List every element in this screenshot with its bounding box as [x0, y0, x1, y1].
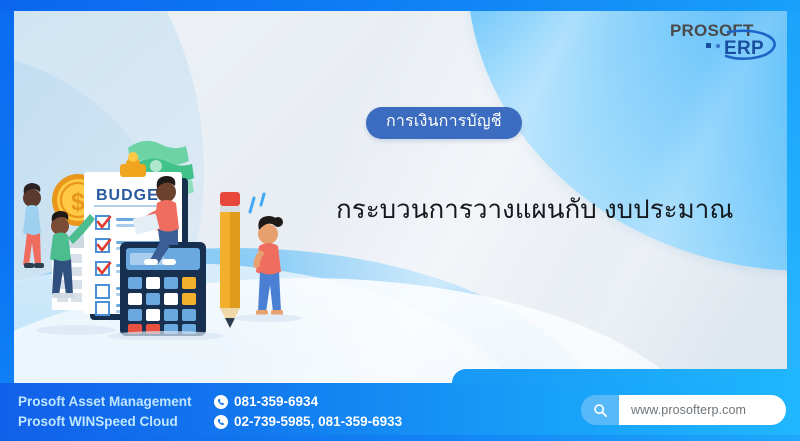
- frame-border-bottom: [0, 435, 800, 441]
- contact-label: Prosoft WINSpeed Cloud: [18, 412, 214, 432]
- footer-bar: Prosoft Asset Management 081-359-6934 Pr…: [0, 383, 800, 441]
- svg-text:$: $: [71, 188, 85, 216]
- person-standing-icon: [23, 183, 44, 268]
- shadow-ellipse-left: [36, 325, 116, 335]
- search-button[interactable]: [581, 395, 619, 425]
- contact-row: Prosoft Asset Management 081-359-6934: [18, 392, 402, 412]
- contact-label: Prosoft Asset Management: [18, 392, 214, 412]
- contact-phone[interactable]: 081-359-6934: [234, 392, 318, 412]
- contact-block: Prosoft Asset Management 081-359-6934 Pr…: [18, 392, 402, 432]
- website-search-bar[interactable]: www.prosofterp.com: [581, 395, 786, 425]
- frame-border-top: [0, 0, 800, 11]
- budget-planning-illustration: $ BUDGET: [16, 130, 346, 340]
- page-title: กระบวนการวางแผนกับ งบประมาณ: [336, 192, 733, 227]
- footer-notch: [452, 369, 800, 385]
- logo-square-dot-1: [706, 43, 711, 48]
- prosoft-erp-logo: PROSOFT ERP: [666, 16, 784, 64]
- contact-phone[interactable]: 02-739-5985, 081-359-6933: [234, 412, 402, 432]
- phone-icon: [214, 415, 228, 429]
- search-icon: [593, 403, 608, 418]
- shadow-ellipse-right: [234, 314, 302, 322]
- search-input[interactable]: www.prosofterp.com: [619, 395, 786, 425]
- pencil-icon: [220, 192, 240, 328]
- category-badge: การเงินการบัญชี: [366, 107, 522, 139]
- sparkle-icon: [250, 194, 264, 212]
- contact-row: Prosoft WINSpeed Cloud 02-739-5985, 081-…: [18, 412, 402, 432]
- logo-round-dot-2: [716, 44, 720, 48]
- frame-border-left: [0, 0, 14, 441]
- phone-icon: [214, 395, 228, 409]
- promotional-banner: PROSOFT ERP การเงินการบัญชี กระบวนการวาง…: [0, 0, 800, 441]
- person-with-pencil-icon: [254, 216, 283, 315]
